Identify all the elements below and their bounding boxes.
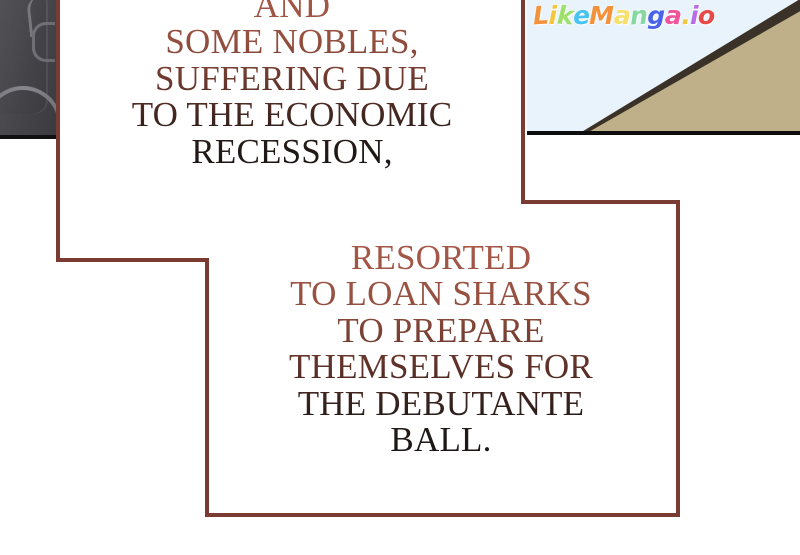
watermark-letter: o [697,1,715,31]
lower-panel-border-right [676,200,680,517]
narration-line: THE DEBUTANTE [211,386,671,422]
watermark-letter: k [556,1,574,31]
narration-line: RECESSION, [62,134,522,170]
narration-line: BALL. [211,422,671,458]
site-watermark: LikeManga.io [533,1,715,30]
narration-text-top: ANDSOME NOBLES,SUFFERING DUETO THE ECONO… [62,0,522,170]
narration-text-bottom: RESORTEDTO LOAN SHARKSTO PREPARETHEMSELV… [211,240,671,458]
left-illustration-panel [0,0,56,137]
armor-shading-overlay [0,0,56,137]
watermark-letter: e [572,1,590,31]
narration-line: TO THE ECONOMIC [62,97,522,133]
narration-line: SUFFERING DUE [62,61,522,97]
watermark-letter: a [664,1,682,31]
narration-line: TO LOAN SHARKS [211,276,671,312]
narration-line: AND [62,0,522,24]
sky-panel-baseline [527,131,800,135]
narration-line: TO PREPARE [211,313,671,349]
narration-line: RESORTED [211,240,671,276]
lower-panel-border-bottom [205,513,680,517]
watermark-letter: M [589,1,613,30]
watermark-letter: i [548,1,556,30]
narration-line: THEMSELVES FOR [211,349,671,385]
reader-page: LikeManga.io ANDSOME NOBLES,SUFFERING DU… [0,0,800,555]
watermark-letter: a [613,1,631,31]
upper-panel-border-bottom-right [521,200,680,204]
left-panel-baseline [0,135,57,139]
upper-panel-border-left [56,0,60,258]
upper-panel-border-bottom-left [56,258,209,262]
watermark-letter: n [629,1,648,31]
lower-panel-border-left [205,258,209,517]
watermark-letter: L [532,1,549,31]
watermark-letter: g [647,1,664,30]
narration-line: SOME NOBLES, [62,24,522,60]
